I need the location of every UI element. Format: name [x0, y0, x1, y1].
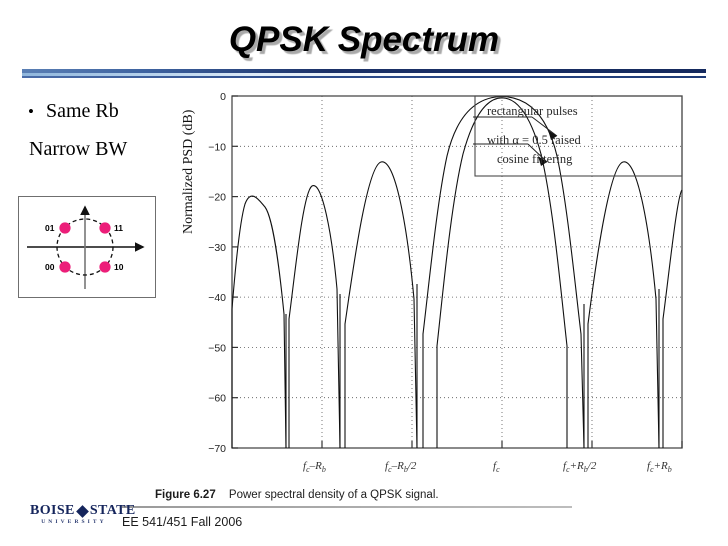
boise-state-logo: BOISE STATE UNIVERSITY: [30, 504, 118, 530]
figure-number: Figure 6.27: [155, 489, 216, 501]
x-tick-fc: fc: [493, 460, 500, 474]
constellation-point-10: 10: [99, 261, 123, 272]
svg-text:fc–Rb: fc–Rb: [303, 460, 326, 474]
caption-divider: [122, 506, 572, 508]
svg-text:fc–Rb/2: fc–Rb/2: [385, 460, 417, 474]
constellation-axes: [27, 207, 143, 289]
bullet-dot-icon: •: [28, 103, 34, 120]
constellation-point-00: 00: [45, 261, 71, 272]
diamond-icon: [76, 505, 89, 518]
chart-y-tick-labels: 0 −10 −20 −30 −40 −50 −60 −70: [208, 91, 226, 455]
psd-figure: Normalized PSD (dB): [185, 84, 710, 494]
y-tick-m30: −30: [208, 242, 226, 254]
logo-text-state: STATE: [90, 504, 136, 518]
psd-chart: 0 −10 −20 −30 −40 −50 −60 −70: [185, 84, 710, 494]
svg-text:fc+Rb/2: fc+Rb/2: [563, 460, 597, 474]
constellation-point-01: 01: [45, 222, 71, 233]
divider-band-bottom: [22, 76, 706, 78]
x-tick-2-sub: c: [496, 465, 500, 474]
constellation-label-11: 11: [114, 223, 123, 233]
x-tick-fc-minus-rb: fc–Rb: [303, 460, 326, 474]
y-tick-m70: −70: [208, 443, 226, 455]
series-rectangular-pulses: [232, 97, 682, 449]
bullet-text: Narrow BW: [29, 130, 127, 168]
chart-x-tick-labels: fc–Rb fc–Rb/2 fc fc+Rb/2: [303, 460, 672, 474]
annotation-raised-cosine-line2: cosine filtering: [497, 152, 573, 166]
chart-axes-frame: [232, 96, 682, 448]
constellation-label-00: 00: [45, 262, 55, 272]
x-tick-0-rest-sub: b: [322, 465, 326, 474]
logo-text-boise: BOISE: [30, 504, 75, 518]
y-tick-m20: −20: [208, 192, 226, 204]
annotation-raised-cosine-line1: with α = 0.5 raised: [487, 133, 582, 147]
x-tick-3-rest: +R: [570, 460, 584, 472]
qpsk-constellation-diagram: 01 11 00 10: [18, 196, 156, 298]
logo-wordmark: BOISE STATE: [30, 504, 118, 518]
annotation-rectangular-pulses: rectangular pulses: [487, 104, 578, 118]
x-tick-4-rest: +R: [654, 460, 668, 472]
chart-gridlines: [232, 96, 682, 448]
x-tick-fc-plus-rb-half: fc+Rb/2: [563, 460, 597, 474]
constellation-point-11: 11: [99, 222, 123, 233]
figure-caption-text: Power spectral density of a QPSK signal.: [229, 489, 439, 501]
page-title: QPSK Spectrum: [0, 20, 728, 60]
x-tick-4-rest-sub: b: [668, 465, 672, 474]
svg-text:fc+Rb: fc+Rb: [647, 460, 672, 474]
footer-course-label: EE 541/451 Fall 2006: [122, 515, 242, 529]
x-tick-1-tail: /2: [407, 460, 417, 472]
figure-caption: Figure 6.27 Power spectral density of a …: [155, 489, 585, 501]
y-tick-m10: −10: [208, 141, 226, 153]
x-tick-fc-plus-rb: fc+Rb: [647, 460, 672, 474]
x-tick-3-tail: /2: [587, 460, 597, 472]
constellation-label-01: 01: [45, 223, 55, 233]
x-tick-1-rest: –R: [391, 460, 405, 472]
logo-text-university: UNIVERSITY: [30, 519, 118, 525]
y-tick-0: 0: [220, 91, 226, 103]
x-tick-0-rest: –R: [309, 460, 323, 472]
bullet-text: Same Rb: [46, 92, 119, 130]
svg-text:fc: fc: [493, 460, 500, 474]
x-tick-fc-minus-rb-half: fc–Rb/2: [385, 460, 417, 474]
y-tick-m40: −40: [208, 292, 226, 304]
chart-annotation-box: rectangular pulses with α = 0.5 raised c…: [473, 96, 682, 176]
constellation-label-10: 10: [114, 262, 124, 272]
y-tick-m60: −60: [208, 393, 226, 405]
y-tick-m50: −50: [208, 342, 226, 354]
title-divider: [22, 69, 706, 78]
